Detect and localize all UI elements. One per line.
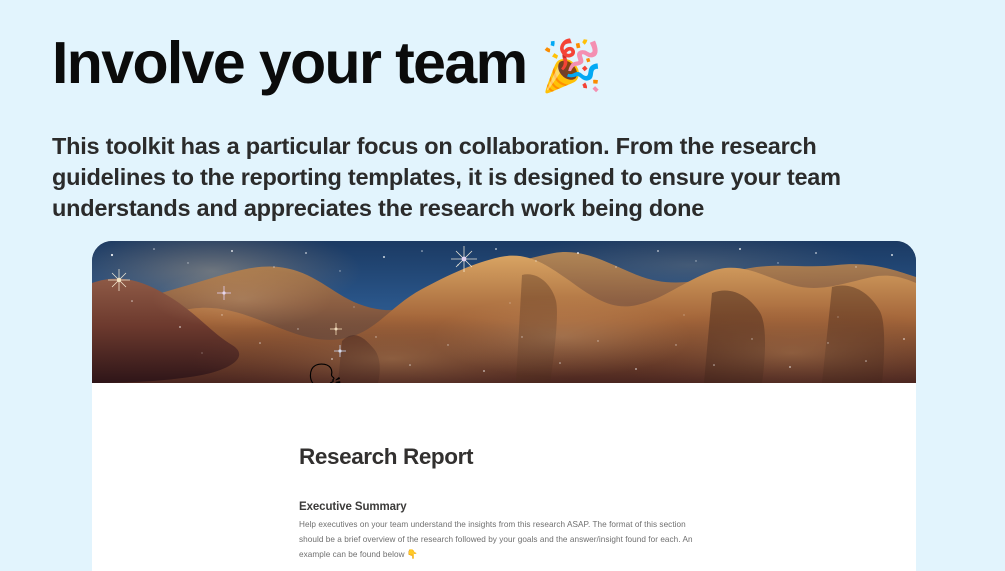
document-preview-card[interactable]: 🗣 Research Report Executive Summary Help… (92, 241, 916, 571)
section-heading-executive-summary: Executive Summary (299, 501, 407, 513)
page-title-text: Involve your team (52, 34, 526, 93)
slide-root: Involve your team 🎉 This toolkit has a p… (0, 0, 1005, 565)
section-body-executive-summary: Help executives on your team understand … (299, 518, 699, 562)
document-title: Research Report (299, 444, 473, 470)
pointing-down-emoji: 👇 (407, 549, 418, 559)
section-body-text: Help executives on your team understand … (299, 520, 693, 559)
page-title: Involve your team 🎉 (52, 34, 603, 93)
speaking-head-cursor[interactable]: 🗣 (306, 365, 344, 383)
page-subtitle: This toolkit has a particular focus on c… (52, 131, 932, 224)
party-popper-emoji: 🎉 (540, 41, 602, 91)
document-cover-image: 🗣 (92, 241, 916, 383)
document-body: Research Report Executive Summary Help e… (92, 383, 916, 571)
